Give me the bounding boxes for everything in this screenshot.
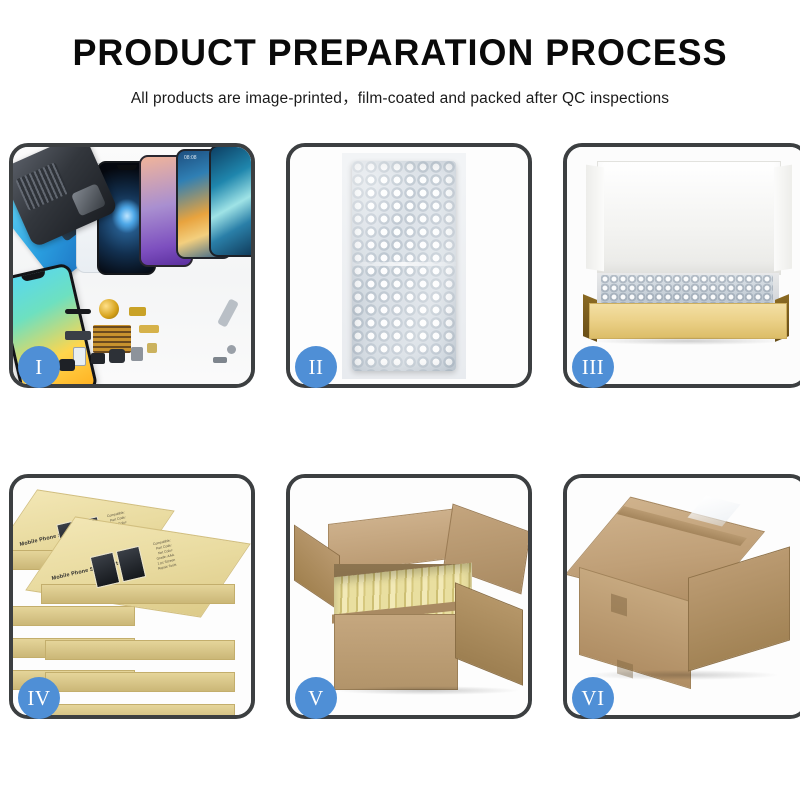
process-step-grid: 08:08 I II [0, 143, 800, 719]
step-badge-3: III [572, 346, 614, 388]
part-gold-connector [129, 307, 146, 316]
step-badge-2: II [295, 346, 337, 388]
process-step-panel-3[interactable]: III [563, 143, 800, 388]
carton-front-face [334, 614, 458, 690]
part-speaker-mesh [65, 309, 91, 314]
sealed-carton-drop-shadow [587, 670, 777, 680]
part-flex-cable [65, 331, 91, 340]
part-battery-connector [109, 349, 125, 363]
process-step-panel-2[interactable]: II [286, 143, 532, 388]
part-screw [227, 345, 236, 354]
part-gold-chip [147, 343, 157, 353]
process-step-panel-1[interactable]: 08:08 I [9, 143, 255, 388]
box-front-panel [589, 303, 787, 339]
part-camera-module [91, 353, 105, 364]
step-badge-1: I [18, 346, 60, 388]
phone-cyan-swirl [209, 147, 251, 257]
carton-right-face [455, 582, 523, 685]
step-badge-5: V [295, 677, 337, 719]
step-badge-4: IV [18, 677, 60, 719]
box-lid-open [597, 161, 781, 275]
page-subtitle: All products are image-printed，film-coat… [0, 86, 800, 108]
bubble-wrapped-contents [601, 275, 773, 303]
page-header: PRODUCT PREPARATION PROCESS All products… [0, 0, 800, 108]
part-gold-bracket [139, 325, 159, 333]
plastic-gloss-highlight [352, 161, 456, 371]
carton-drop-shadow [334, 686, 520, 695]
process-step-panel-4[interactable]: Mobile Phone Spare Parts Compatible:Part… [9, 474, 255, 719]
part-taptic-coil [99, 299, 119, 319]
part-screwdriver [217, 298, 239, 327]
process-step-panel-5[interactable]: V [286, 474, 532, 719]
page-title: PRODUCT PREPARATION PROCESS [12, 34, 788, 73]
retail-box-br-3 [45, 664, 233, 715]
part-vibration-motor [59, 359, 75, 371]
step-badge-6: VI [572, 677, 614, 719]
process-step-panel-6[interactable]: VI [563, 474, 800, 719]
part-metal-shield [131, 347, 143, 361]
part-bracket-small [213, 357, 227, 363]
box-drop-shadow [593, 337, 783, 345]
